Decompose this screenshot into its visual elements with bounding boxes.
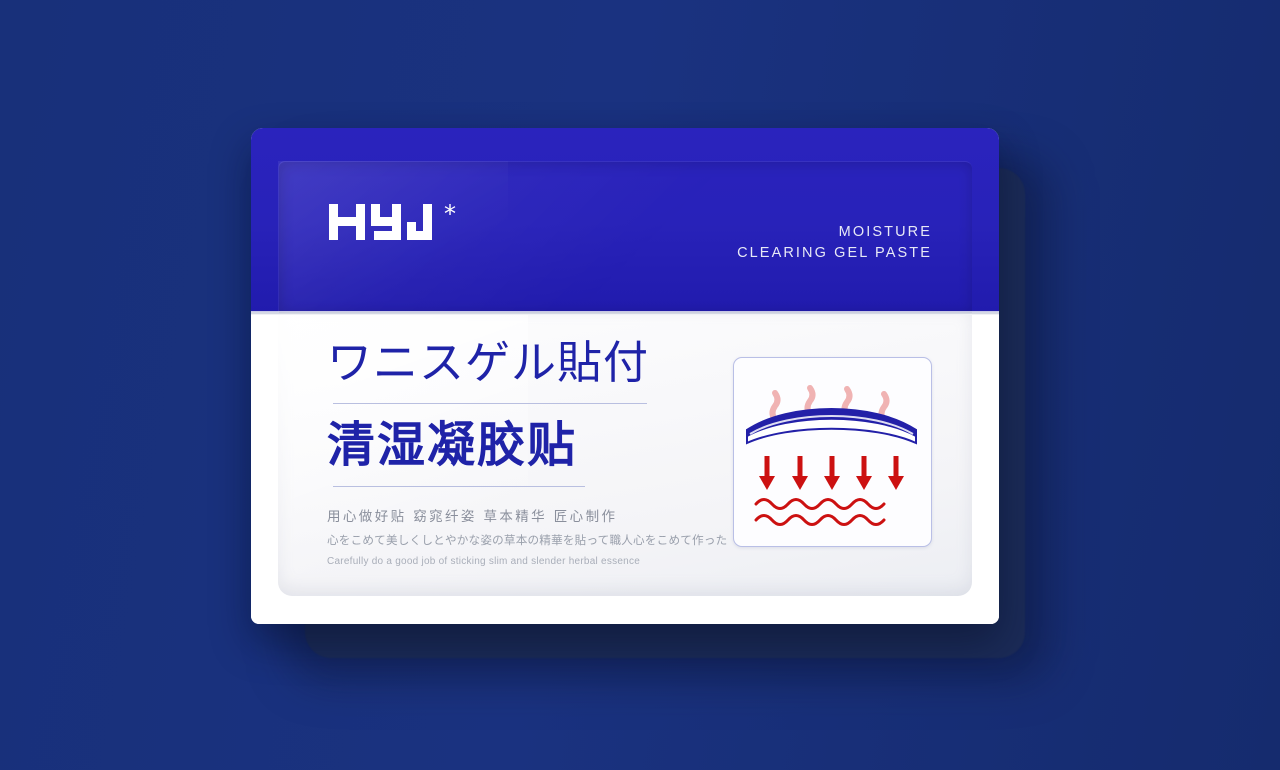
hyj-logo-icon [329,204,441,240]
subtitle-japanese: 心をこめて美しくしとやかな姿の草本の精華を貼って職人心をこめて作った [327,532,717,548]
scene-root: * MOISTURE CLEARING GEL PASTE ワニスゲル貼付 清湿… [0,0,1280,770]
package-text-block: ワニスゲル貼付 清湿凝胶贴 用心做好贴 窈窕纤姿 草本精华 匠心制作 心をこめて… [327,341,717,567]
skin-waves [756,500,884,525]
divider-bottom [333,486,585,487]
brand-tagline: MOISTURE CLEARING GEL PASTE [737,222,932,264]
logo-asterisk-icon: * [444,202,456,226]
product-package: * MOISTURE CLEARING GEL PASTE ワニスゲル貼付 清湿… [251,128,999,624]
brand-tagline-line2: CLEARING GEL PASTE [737,243,932,264]
brand-tagline-line1: MOISTURE [737,222,932,243]
subtitle-english: Carefully do a good job of sticking slim… [327,556,717,567]
brand-logo: * [329,204,456,240]
illustration-panel [733,357,932,547]
package-top-panel: * MOISTURE CLEARING GEL PASTE [251,128,999,312]
title-chinese: 清湿凝胶贴 [327,422,717,470]
gel-patch-absorption-diagram-icon [734,358,929,544]
divider-top [333,403,647,404]
subtitle-chinese: 用心做好贴 窈窕纤姿 草本精华 匠心制作 [327,505,717,525]
absorption-arrows [759,456,904,490]
title-japanese: ワニスゲル貼付 [327,341,717,386]
